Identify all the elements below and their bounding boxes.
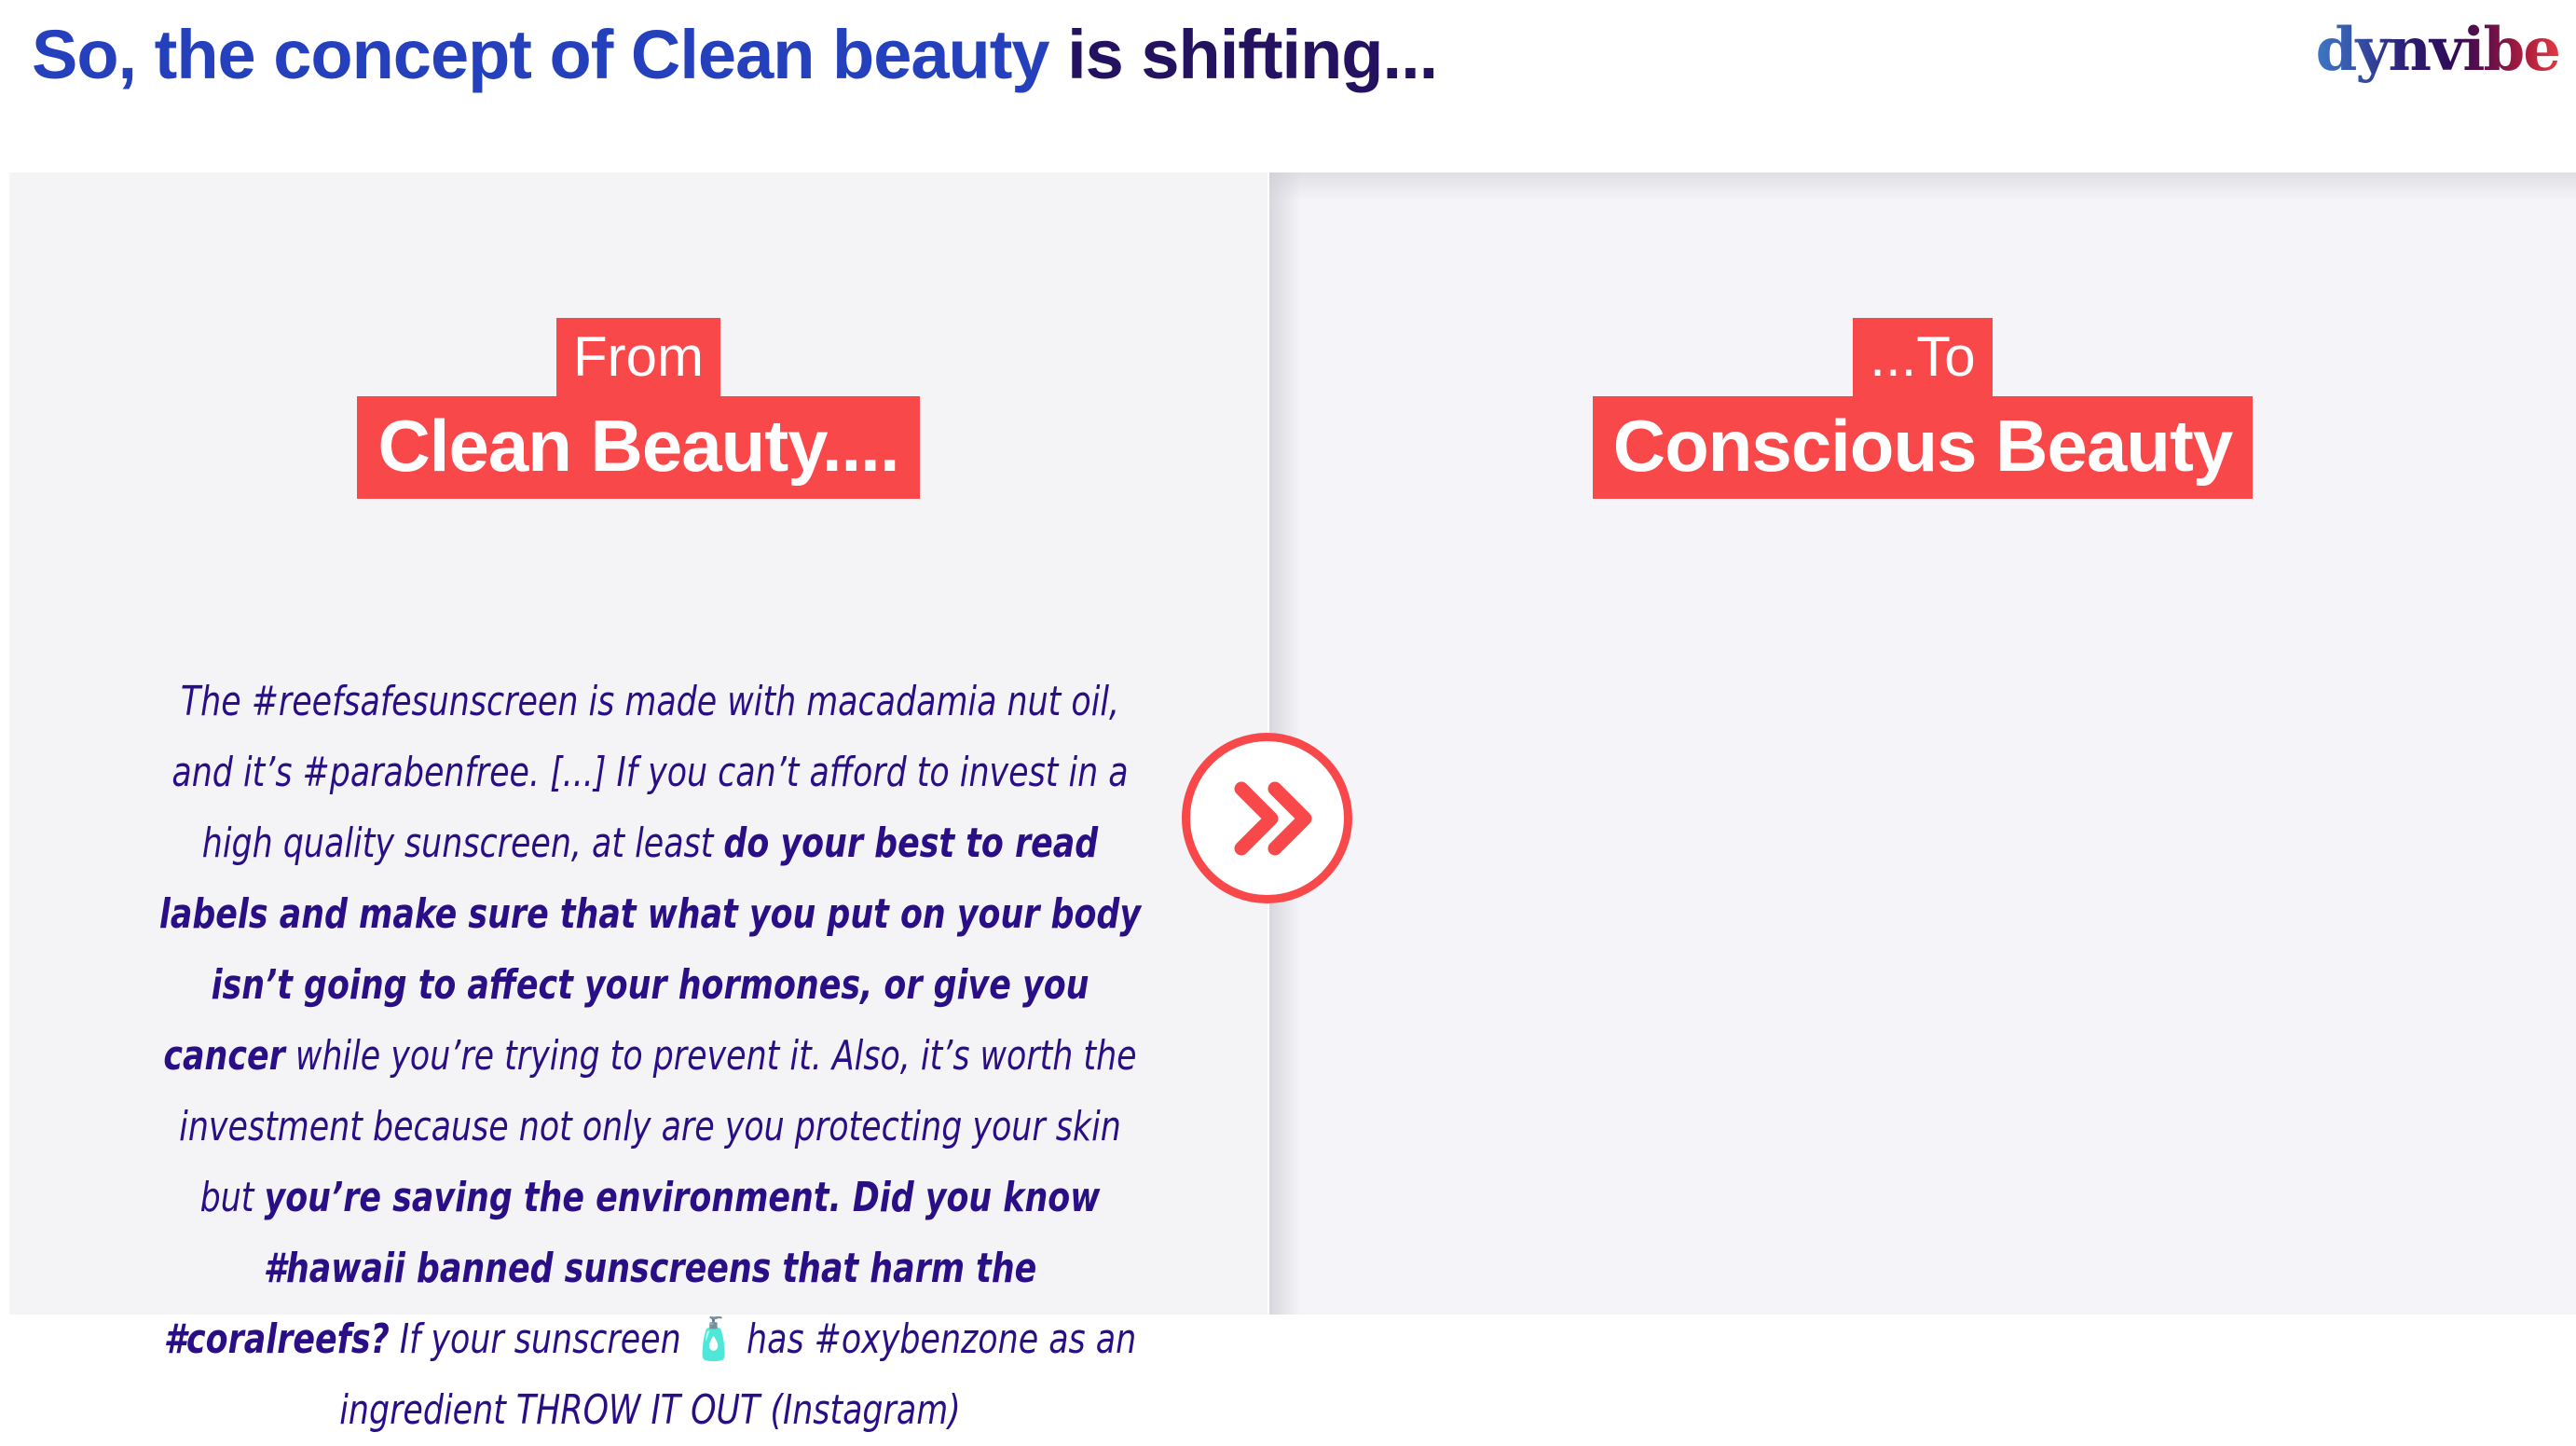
right-kicker-label: ...To bbox=[1853, 318, 1992, 398]
left-kicker-label: From bbox=[556, 318, 720, 398]
right-headline-label: Conscious Beauty bbox=[1593, 396, 2253, 499]
left-headline-label: Clean Beauty.... bbox=[357, 396, 919, 499]
left-label-stack: From Clean Beauty.... bbox=[9, 318, 1267, 499]
dynvibe-logo: dynvibe bbox=[2316, 15, 2559, 86]
panel-from-clean-beauty: From Clean Beauty.... The #reefsafesunsc… bbox=[9, 172, 1267, 1315]
lotion-bottle-emoji: 🧴 bbox=[692, 1315, 736, 1363]
page-title-accent: So, the concept of Clean beauty bbox=[32, 16, 1067, 93]
page-title: So, the concept of Clean beauty is shift… bbox=[32, 13, 1437, 97]
quote-run: If your sunscreen bbox=[390, 1315, 692, 1363]
left-quote-text: The #reefsafesunscreen is made with maca… bbox=[148, 667, 1153, 1446]
slide-header: So, the concept of Clean beauty is shift… bbox=[0, 0, 2576, 172]
panel-to-conscious-beauty: ...To Conscious Beauty A very shortened … bbox=[1269, 172, 2576, 1315]
right-label-stack: ...To Conscious Beauty bbox=[1269, 318, 2576, 499]
comparison-stage: From Clean Beauty.... The #reefsafesunsc… bbox=[0, 172, 2576, 1315]
page-title-tail: is shifting... bbox=[1067, 16, 1437, 93]
double-chevron-right-icon bbox=[1182, 733, 1352, 903]
